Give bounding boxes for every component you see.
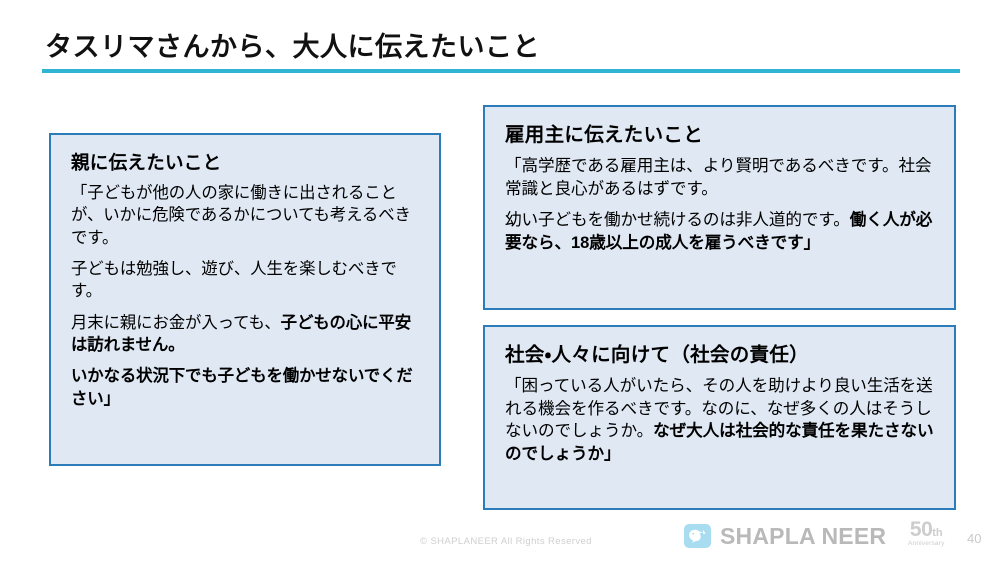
- brand-logo: SHAPLA NEER: [684, 524, 886, 548]
- page-number: 40: [967, 531, 981, 546]
- card-employer-title: 雇用主に伝えたいこと: [505, 123, 936, 148]
- card-employer-body: 「高学歴である雇用主は、より賢明であるべきです。社会常識と良心があるはずです。幼…: [505, 155, 936, 254]
- paragraph: 子どもは勉強し、遊び、人生を楽しむべきです。: [71, 258, 421, 303]
- text-run: 月末に親にお金が入っても、: [71, 314, 281, 332]
- card-parent-title: 親に伝えたいこと: [71, 151, 421, 175]
- text-run: 「高学歴である雇用主は、より賢明であるべきです。社会常識と良心があるはずです。: [505, 156, 932, 198]
- anniversary-label: Anniversary: [908, 541, 945, 548]
- card-parent-body: 「子どもが他の人の家に働きに出されることが、いかに危険であるかについても考えるべ…: [71, 182, 421, 410]
- card-parent: 親に伝えたいこと 「子どもが他の人の家に働きに出されることが、いかに危険であるか…: [49, 133, 441, 466]
- paragraph: 「高学歴である雇用主は、より賢明であるべきです。社会常識と良心があるはずです。: [505, 155, 936, 200]
- text-run: 「子どもが他の人の家に働きに出されることが、いかに危険であるかについても考えるべ…: [71, 184, 411, 247]
- text-run-bold: いかなる状況下でも子どもを働かせないでください」: [71, 367, 413, 407]
- card-society-body: 「困っている人がいたら、その人を助けより良い生活を送れる機会を作るべきです。なの…: [505, 375, 936, 465]
- anniversary-number-value: 50: [910, 518, 932, 541]
- page-title: タスリマさんから、大人に伝えたいこと: [45, 25, 540, 64]
- paragraph: 幼い子どもを働かせ続けるのは非人道的です。働く人が必要なら、18歳以上の成人を雇…: [505, 209, 936, 254]
- paragraph: いかなる状況下でも子どもを働かせないでください」: [71, 365, 421, 410]
- paragraph: 「困っている人がいたら、その人を助けより良い生活を送れる機会を作るべきです。なの…: [505, 375, 936, 465]
- paragraph: 「子どもが他の人の家に働きに出されることが、いかに危険であるかについても考えるべ…: [71, 182, 421, 249]
- anniversary-badge: 50th Anniversary: [908, 519, 945, 548]
- paragraph: 月末に親にお金が入っても、子どもの心に平安は訪れません。: [71, 312, 421, 357]
- copyright-text: © SHAPLANEER All Rights Reserved: [420, 536, 592, 547]
- card-society: 社会・人々に向けて（社会の責任） 「困っている人がいたら、その人を助けより良い生…: [483, 325, 956, 510]
- anniversary-number: 50th: [908, 519, 945, 540]
- text-run: 子どもは勉強し、遊び、人生を楽しむべきです。: [71, 260, 397, 300]
- card-society-title: 社会・人々に向けて（社会の責任）: [505, 343, 936, 368]
- text-run: 幼い子どもを働かせ続けるのは非人道的です。: [505, 210, 850, 229]
- brand-wordmark: SHAPLA NEER: [720, 525, 886, 548]
- card-employer: 雇用主に伝えたいこと 「高学歴である雇用主は、より賢明であるべきです。社会常識と…: [483, 105, 956, 310]
- title-underline-rule: [42, 69, 960, 73]
- dove-icon: [684, 524, 711, 548]
- anniversary-ordinal: th: [932, 527, 942, 539]
